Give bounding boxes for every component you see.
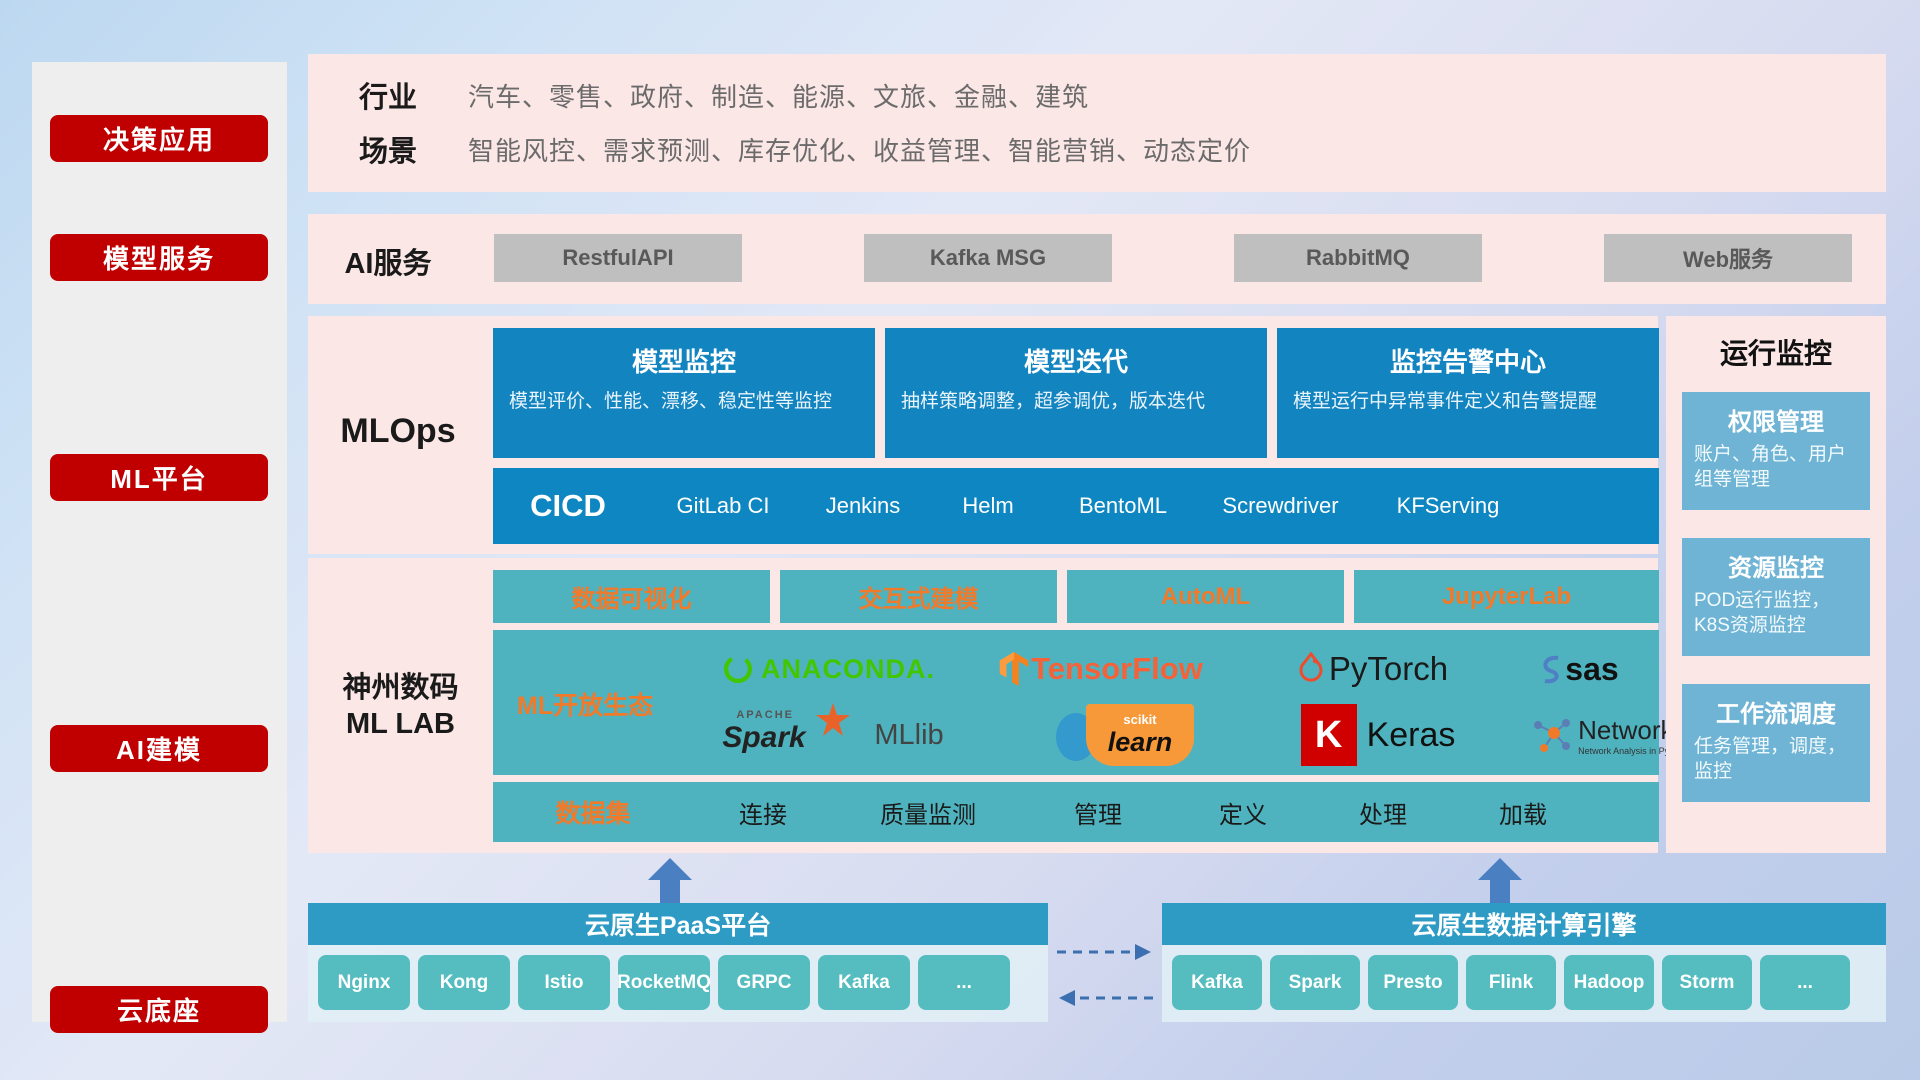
- dataset-item-management[interactable]: 管理: [1023, 795, 1173, 830]
- keras-logo-text: Keras: [1367, 716, 1456, 755]
- tab-jupyterlab[interactable]: JupyterLab: [1354, 570, 1659, 623]
- dataset-item-processing[interactable]: 处理: [1313, 795, 1453, 830]
- monitoring-rail: 运行监控 权限管理 账户、角色、用户组等管理 资源监控 POD运行监控，K8S资…: [1666, 316, 1886, 853]
- spark-logo-text: Spark: [722, 721, 805, 755]
- anaconda-logo-text: ANACONDA.: [761, 654, 935, 685]
- dataset-item-quality-monitoring[interactable]: 质量监测: [833, 795, 1023, 830]
- paas-chip-kafka[interactable]: Kafka: [818, 955, 910, 1010]
- tab-data-visualization[interactable]: 数据可视化: [493, 570, 770, 623]
- paas-up-arrow-icon: [640, 858, 700, 904]
- cicd-item-gitlab-ci[interactable]: GitLab CI: [643, 494, 803, 517]
- compute-engine-panel: 云原生数据计算引擎 Kafka Spark Presto Flink Hadoo…: [1162, 903, 1886, 1022]
- keras-logo-sub: K: [1315, 714, 1342, 757]
- paas-chip-nginx[interactable]: Nginx: [318, 955, 410, 1010]
- mlops-card-desc: 模型运行中异常事件定义和告警提醒: [1293, 389, 1643, 415]
- compute-chip-kafka[interactable]: Kafka: [1172, 955, 1262, 1010]
- business-row-industry: 行业 汽车、零售、政府、制造、能源、文旅、金融、建筑: [308, 68, 1886, 122]
- rail-item-cloud-base[interactable]: 云底座: [50, 986, 268, 1033]
- tensorflow-logo: TensorFlow: [955, 638, 1245, 700]
- dataset-label: 数据集: [493, 794, 693, 830]
- business-key-industry: 行业: [308, 74, 468, 116]
- rail-item-ml-platform[interactable]: ML平台: [50, 454, 268, 501]
- monitoring-title: 运行监控: [1666, 332, 1886, 372]
- cicd-item-bentoml[interactable]: BentoML: [1053, 494, 1193, 517]
- sas-icon: [1537, 652, 1565, 686]
- paas-chip-rocketmq[interactable]: RocketMQ: [618, 955, 710, 1010]
- dataset-row: 数据集 连接 质量监测 管理 定义 处理 加载: [493, 782, 1659, 842]
- spark-mllib-logo: APACHE Spark MLlib: [688, 702, 978, 768]
- paas-chip-kong[interactable]: Kong: [418, 955, 510, 1010]
- tab-automl[interactable]: AutoML: [1067, 570, 1344, 623]
- ai-service-chip-kafka-msg[interactable]: Kafka MSG: [864, 234, 1112, 282]
- ml-lab-label: 神州数码 ML LAB: [308, 670, 493, 743]
- paas-chip-istio[interactable]: Istio: [518, 955, 610, 1010]
- cicd-bar: CICD GitLab CI Jenkins Helm BentoML Scre…: [493, 468, 1659, 544]
- anaconda-icon: [721, 652, 755, 686]
- scikit-logo-sub: scikit: [1123, 712, 1156, 727]
- monitoring-card-title: 工作流调度: [1694, 694, 1858, 729]
- monitoring-card-title: 权限管理: [1694, 402, 1858, 437]
- paas-title: 云原生PaaS平台: [308, 903, 1048, 945]
- ml-ecosystem-panel: ML开放生态 ANACONDA. TensorFlow: [493, 630, 1659, 775]
- ml-lab-label-line1: 神州数码: [308, 670, 493, 706]
- ai-service-label: AI服务: [308, 240, 468, 282]
- mlops-card-title: 监控告警中心: [1293, 342, 1643, 379]
- monitoring-card-desc: 账户、角色、用户组等管理: [1694, 443, 1858, 492]
- scikit-learn-logo: scikit learn: [1003, 702, 1243, 768]
- compute-up-arrow-icon: [1470, 858, 1530, 904]
- paas-panel: 云原生PaaS平台 Nginx Kong Istio RocketMQ GRPC…: [308, 903, 1048, 1022]
- tensorflow-icon: [997, 650, 1031, 688]
- monitoring-card-workflow[interactable]: 工作流调度 任务管理，调度，监控: [1682, 684, 1870, 802]
- compute-chip-more[interactable]: ...: [1760, 955, 1850, 1010]
- compute-chip-presto[interactable]: Presto: [1368, 955, 1458, 1010]
- keras-logo: K Keras: [1253, 702, 1503, 768]
- ml-lab-label-line2: ML LAB: [308, 706, 493, 742]
- business-band: 行业 汽车、零售、政府、制造、能源、文旅、金融、建筑 场景 智能风控、需求预测、…: [308, 54, 1886, 192]
- ai-service-chip-rabbitmq[interactable]: RabbitMQ: [1234, 234, 1482, 282]
- pytorch-icon: [1298, 652, 1324, 686]
- business-row-scenario: 场景 智能风控、需求预测、库存优化、收益管理、智能营销、动态定价: [308, 122, 1886, 176]
- scikit-logo-text: learn: [1108, 727, 1173, 758]
- cicd-item-jenkins[interactable]: Jenkins: [803, 494, 923, 517]
- ai-service-chip-web-service[interactable]: Web服务: [1604, 234, 1852, 282]
- compute-engine-title: 云原生数据计算引擎: [1162, 903, 1886, 945]
- mlops-card-title: 模型监控: [509, 342, 859, 379]
- sas-logo: sas: [1498, 638, 1658, 700]
- networkx-graph-icon: [1530, 713, 1574, 757]
- cicd-item-helm[interactable]: Helm: [923, 494, 1053, 517]
- spark-star-icon: [814, 701, 852, 739]
- pytorch-logo-text: PyTorch: [1329, 650, 1448, 688]
- cicd-item-kfserving[interactable]: KFServing: [1368, 494, 1528, 517]
- ai-service-chip-restfulapi[interactable]: RestfulAPI: [494, 234, 742, 282]
- pytorch-logo: PyTorch: [1243, 638, 1503, 700]
- business-key-scenario: 场景: [308, 128, 468, 170]
- cicd-title: CICD: [493, 488, 643, 524]
- compute-chip-spark[interactable]: Spark: [1270, 955, 1360, 1010]
- bidirectional-dashed-arrows: [1055, 940, 1155, 1010]
- anaconda-logo: ANACONDA.: [693, 638, 963, 700]
- spark-logo-sub: APACHE: [736, 709, 794, 721]
- mlops-label: MLOps: [308, 412, 488, 451]
- mlops-card-desc: 抽样策略调整，超参调优，版本迭代: [901, 389, 1251, 415]
- ai-modeling-band: 神州数码 ML LAB 数据可视化 交互式建模 AutoML JupyterLa…: [308, 558, 1658, 853]
- mlops-card-title: 模型迭代: [901, 342, 1251, 379]
- dataset-item-definition[interactable]: 定义: [1173, 795, 1313, 830]
- tab-interactive-modeling[interactable]: 交互式建模: [780, 570, 1057, 623]
- compute-chip-storm[interactable]: Storm: [1662, 955, 1752, 1010]
- mllib-logo-text: MLlib: [874, 719, 943, 752]
- rail-item-decision-app[interactable]: 决策应用: [50, 115, 268, 162]
- tensorflow-logo-text: TensorFlow: [1031, 651, 1203, 687]
- business-value-industry: 汽车、零售、政府、制造、能源、文旅、金融、建筑: [468, 77, 1089, 114]
- business-value-scenario: 智能风控、需求预测、库存优化、收益管理、智能营销、动态定价: [468, 131, 1251, 168]
- cicd-item-screwdriver[interactable]: Screwdriver: [1193, 494, 1368, 517]
- scikit-orange-blob-icon: scikit learn: [1086, 704, 1194, 766]
- rail-item-model-service[interactable]: 模型服务: [50, 234, 268, 281]
- monitoring-card-resource[interactable]: 资源监控 POD运行监控，K8S资源监控: [1682, 538, 1870, 656]
- paas-chip-more[interactable]: ...: [918, 955, 1010, 1010]
- compute-chip-hadoop[interactable]: Hadoop: [1564, 955, 1654, 1010]
- left-rail: 决策应用 模型服务 ML平台 AI建模 云底座: [32, 62, 287, 1022]
- ai-service-band: AI服务 RestfulAPI Kafka MSG RabbitMQ Web服务: [308, 214, 1886, 304]
- keras-k-icon: K: [1301, 704, 1357, 766]
- monitoring-card-desc: POD运行监控，K8S资源监控: [1694, 589, 1858, 638]
- sas-logo-text: sas: [1565, 651, 1618, 688]
- rail-item-ai-modeling[interactable]: AI建模: [50, 725, 268, 772]
- mlops-card-alert-center[interactable]: 监控告警中心 模型运行中异常事件定义和告警提醒: [1277, 328, 1659, 458]
- architecture-diagram: 决策应用 模型服务 ML平台 AI建模 云底座 行业 汽车、零售、政府、制造、能…: [0, 0, 1920, 1080]
- mlops-band: MLOps 模型监控 模型评价、性能、漂移、稳定性等监控 模型迭代 抽样策略调整…: [308, 316, 1658, 554]
- monitoring-card-desc: 任务管理，调度，监控: [1694, 735, 1858, 784]
- mlops-card-model-iteration[interactable]: 模型迭代 抽样策略调整，超参调优，版本迭代: [885, 328, 1267, 458]
- dataset-item-connect[interactable]: 连接: [693, 795, 833, 830]
- paas-chip-grpc[interactable]: GRPC: [718, 955, 810, 1010]
- compute-chip-flink[interactable]: Flink: [1466, 955, 1556, 1010]
- monitoring-card-permission[interactable]: 权限管理 账户、角色、用户组等管理: [1682, 392, 1870, 510]
- mlops-card-model-monitoring[interactable]: 模型监控 模型评价、性能、漂移、稳定性等监控: [493, 328, 875, 458]
- mlops-card-desc: 模型评价、性能、漂移、稳定性等监控: [509, 389, 859, 415]
- ml-ecosystem-label: ML开放生态: [517, 686, 653, 722]
- monitoring-card-title: 资源监控: [1694, 548, 1858, 583]
- dataset-item-loading[interactable]: 加载: [1453, 795, 1593, 830]
